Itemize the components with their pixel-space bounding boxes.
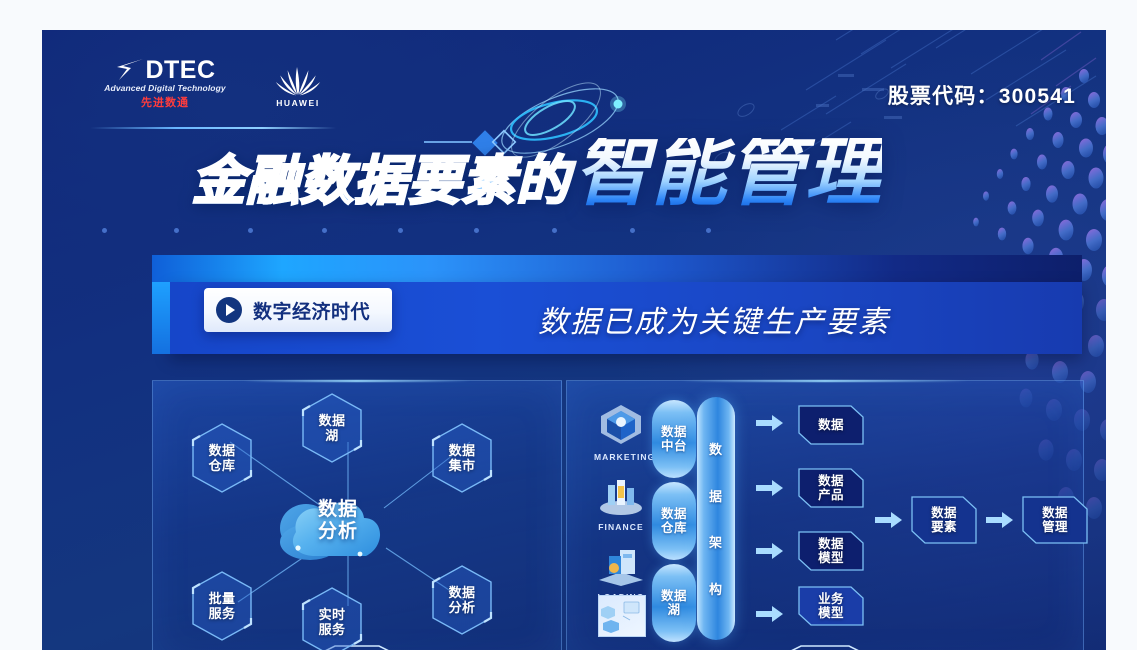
cloud-label-line2: 分析 [318,521,358,543]
page-title: 金融数据要素的 智能管理 [192,138,882,208]
title-part-highlight: 智能管理 [574,138,882,208]
cloud-center-node[interactable]: 数据 分析 [270,470,394,572]
output-label-line1: 数据 [818,474,844,488]
architecture-char-3: 构 [709,579,723,598]
source-finance[interactable]: FINANCE [594,472,648,532]
node-label-line1: 数据 [319,413,346,428]
layer-label-line1: 数据 [661,425,687,439]
output-data-model[interactable]: 数据模型 [798,531,864,571]
source-loading[interactable]: LOADING [594,542,648,602]
section-badge[interactable]: 数字经济时代 [204,288,392,332]
node-label-line1: 数据 [449,585,476,600]
node-data-mart[interactable]: 数据集市 [430,422,494,494]
layer-label-line2: 湖 [667,603,680,617]
panel-chevron-icon [567,643,1083,650]
output-label-line2: 产品 [818,488,844,502]
source-thumbnail-image [598,595,646,637]
layer-data-lake[interactable]: 数据湖 [652,564,696,642]
dtec-name: DTEC [145,58,215,82]
architecture-char-2: 架 [709,532,723,551]
output-label-line2: 模型 [818,551,844,565]
node-data-lake[interactable]: 数据湖 [300,392,364,464]
result-label-line1: 数据 [931,506,957,520]
node-data-analysis[interactable]: 数据分析 [430,564,494,636]
arrow-right-icon [756,542,784,560]
node-label-line2: 服务 [319,622,346,637]
result-label-line1: 数据 [1042,506,1068,520]
result-data-element[interactable]: 数据要素 [911,496,977,544]
presentation-slide: DTEC Advanced Digital Technology 先进数通 [42,30,1106,650]
result-label-line2: 要素 [931,520,957,534]
source-marketing[interactable]: MARKETING [594,402,648,462]
node-batch-service[interactable]: 批量服务 [190,570,254,642]
dot-row-decoration [102,228,722,234]
result-label-line2: 管理 [1042,520,1068,534]
brand-logos: DTEC Advanced Digital Technology 先进数通 [90,58,330,110]
node-label-line2: 仓库 [209,458,236,473]
output-data-product[interactable]: 数据产品 [798,468,864,508]
huawei-logo: HUAWEI [266,66,330,110]
layer-label-line1: 数据 [661,589,687,603]
output-data[interactable]: 数据 [798,405,864,445]
banner-headline: 数据已成为关键生产要素 [538,292,1058,346]
architecture-char-1: 据 [709,486,723,505]
node-label-line1: 数据 [449,443,476,458]
node-label-line2: 服务 [209,606,236,621]
layer-label-line2: 中台 [661,439,687,453]
source-label: FINANCE [594,522,648,532]
layer-label-line2: 仓库 [661,521,687,535]
slide-canvas: DTEC Advanced Digital Technology 先进数通 [0,0,1137,650]
node-data-warehouse[interactable]: 数据仓库 [190,422,254,494]
cube-3d-icon [596,402,646,446]
architecture-pillar[interactable]: 数 据 架 构 [697,397,735,640]
layer-label-line1: 数据 [661,507,687,521]
play-icon [216,297,242,323]
arrow-right-icon [986,511,1014,529]
logo-underline-divider [90,127,336,129]
output-label-line1: 业务 [818,592,844,606]
node-label-line1: 实时 [319,607,346,622]
arrow-right-icon [756,414,784,432]
source-label: MARKETING [594,452,648,462]
dtec-tagline: Advanced Digital Technology [90,83,240,93]
node-label-line2: 分析 [449,600,476,615]
title-part-normal: 金融数据要素的 [192,155,570,208]
banner-left-accent [152,282,170,354]
bank-chart-icon [596,472,646,516]
dtec-chinese-name: 先进数通 [90,94,240,110]
output-label-line1: 数据 [818,537,844,551]
huawei-name: HUAWEI [266,98,330,108]
dtec-arrow-icon [114,58,144,82]
arrow-right-icon [875,511,903,529]
huawei-flower-icon [275,66,321,96]
node-label-line2: 集市 [449,458,476,473]
section-badge-label: 数字经济时代 [253,297,370,324]
arrow-right-icon [756,479,784,497]
node-label-line2: 湖 [325,428,338,443]
node-label-line1: 批量 [209,591,236,606]
layer-data-warehouse[interactable]: 数据仓库 [652,482,696,560]
cloud-label-line1: 数据 [318,499,358,521]
output-business-model[interactable]: 业务模型 [798,586,864,626]
arrow-right-icon [756,605,784,623]
dtec-wordmark: DTEC [90,58,240,82]
data-illustration-icon [599,596,643,634]
stock-code-label: 股票代码：300541 [888,80,1076,110]
node-realtime-service[interactable]: 实时服务 [300,586,364,650]
cloud-label: 数据 分析 [270,470,394,572]
architecture-char-0: 数 [709,439,723,458]
result-data-management[interactable]: 数据管理 [1022,496,1088,544]
node-label-line1: 数据 [209,443,236,458]
output-label-line1: 数据 [818,418,844,432]
dtec-logo: DTEC Advanced Digital Technology 先进数通 [90,58,240,110]
layer-data-midplatform[interactable]: 数据中台 [652,400,696,478]
output-label-line2: 模型 [818,606,844,620]
server-load-icon [596,542,646,586]
